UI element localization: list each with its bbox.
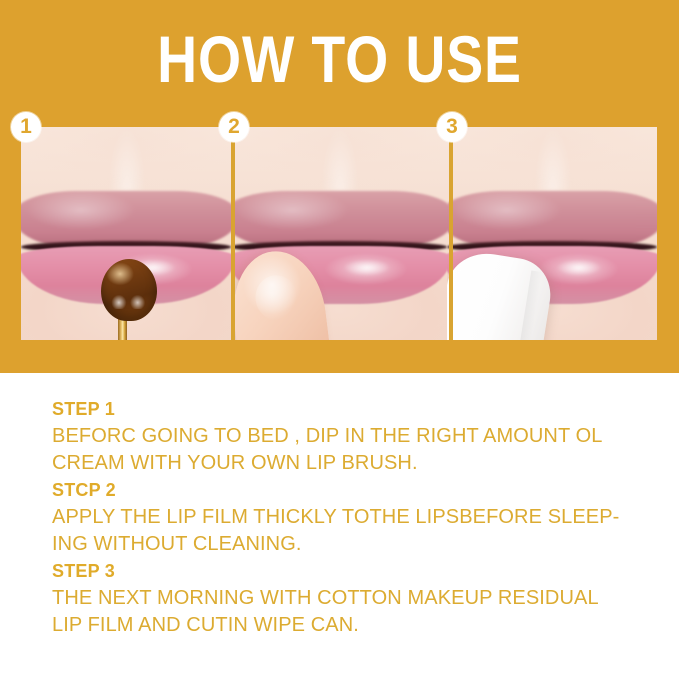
step-badge-1: 1 <box>11 112 41 142</box>
step-badge-3: 3 <box>437 112 467 142</box>
step-3-body: THE NEXT MORNING WITH COTTON MAKEUP RESI… <box>52 585 652 639</box>
step-3-heading: STEP 3 <box>52 558 652 585</box>
steps-photo-strip <box>21 127 657 340</box>
philtrum-highlight <box>322 127 359 191</box>
page-title: HOW TO USE <box>54 24 624 94</box>
panel-divider-2 <box>449 127 453 340</box>
step-1-body: BEFORC GOING TO BED , DIP IN THE RIGHT A… <box>52 423 652 477</box>
philtrum-highlight <box>109 127 145 191</box>
step-photo-3 <box>447 127 657 340</box>
upper-lip <box>447 191 657 246</box>
step-photo-2 <box>231 127 447 340</box>
philtrum-highlight <box>535 127 571 191</box>
lip-gloss-highlight <box>343 259 391 276</box>
instruction-step-2: STCP 2 APPLY THE LIP FILM THICKLY TOTHE … <box>52 477 652 558</box>
applicator-bead-icon <box>101 259 157 321</box>
instructions-list: STEP 1 BEFORC GOING TO BED , DIP IN THE … <box>52 396 652 639</box>
step-2-heading: STCP 2 <box>52 477 652 504</box>
step-badge-2: 2 <box>219 112 249 142</box>
instruction-step-3: STEP 3 THE NEXT MORNING WITH COTTON MAKE… <box>52 558 652 639</box>
step-1-heading: STEP 1 <box>52 396 652 423</box>
upper-lip <box>231 191 447 246</box>
panel-divider-1 <box>231 127 235 340</box>
upper-lip <box>21 191 231 246</box>
instruction-step-1: STEP 1 BEFORC GOING TO BED , DIP IN THE … <box>52 396 652 477</box>
step-photo-1 <box>21 127 231 340</box>
step-2-body: APPLY THE LIP FILM THICKLY TOTHE LIPSBEF… <box>52 504 652 558</box>
